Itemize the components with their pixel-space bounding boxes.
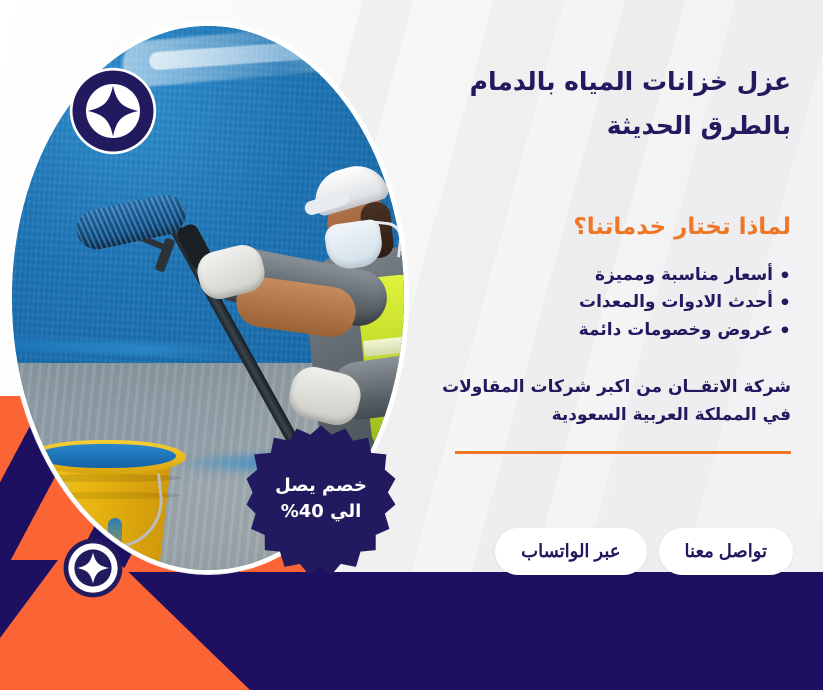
promo-banner: خصم يصل الي 40% عزل خزانات المياه بالدما… bbox=[0, 0, 823, 690]
list-item: أسعار مناسبة ومميزة bbox=[431, 262, 791, 290]
discount-badge-line-1: خصم يصل bbox=[275, 473, 367, 499]
discount-badge-line-2: الي 40% bbox=[275, 499, 367, 525]
cta-button-row: تواصل معنا عبر الواتساب bbox=[433, 528, 793, 575]
headline-line-2: بالطرق الحديثة bbox=[431, 104, 791, 148]
whatsapp-button[interactable]: عبر الواتساب bbox=[495, 528, 646, 575]
headline-line-1: عزل خزانات المياه بالدمام bbox=[431, 60, 791, 104]
discount-badge: خصم يصل الي 40% bbox=[245, 424, 397, 576]
page-title: عزل خزانات المياه بالدمام بالطرق الحديثة bbox=[431, 60, 791, 148]
paint-bucket-blue-paint bbox=[36, 444, 176, 468]
orange-divider bbox=[455, 451, 791, 454]
subheading: لماذا تختار خدماتنا؟ bbox=[431, 214, 791, 240]
list-item: عروض وخصومات دائمة bbox=[431, 317, 791, 345]
sparkle-star-icon bbox=[68, 66, 158, 156]
sparkle-star-icon bbox=[63, 538, 123, 598]
discount-badge-text: خصم يصل الي 40% bbox=[275, 473, 367, 527]
contact-us-button[interactable]: تواصل معنا bbox=[659, 528, 793, 575]
company-description: شركة الاتقــان من اكبر شركات المقاولات ف… bbox=[431, 374, 791, 429]
benefits-list: أسعار مناسبة ومميزة أحدث الادوات والمعدا… bbox=[431, 262, 791, 345]
brand-logo-bottom[interactable] bbox=[63, 538, 123, 598]
content-column: عزل خزانات المياه بالدمام بالطرق الحديثة… bbox=[431, 60, 791, 454]
list-item: أحدث الادوات والمعدات bbox=[431, 289, 791, 317]
brand-logo-top[interactable] bbox=[68, 66, 158, 156]
